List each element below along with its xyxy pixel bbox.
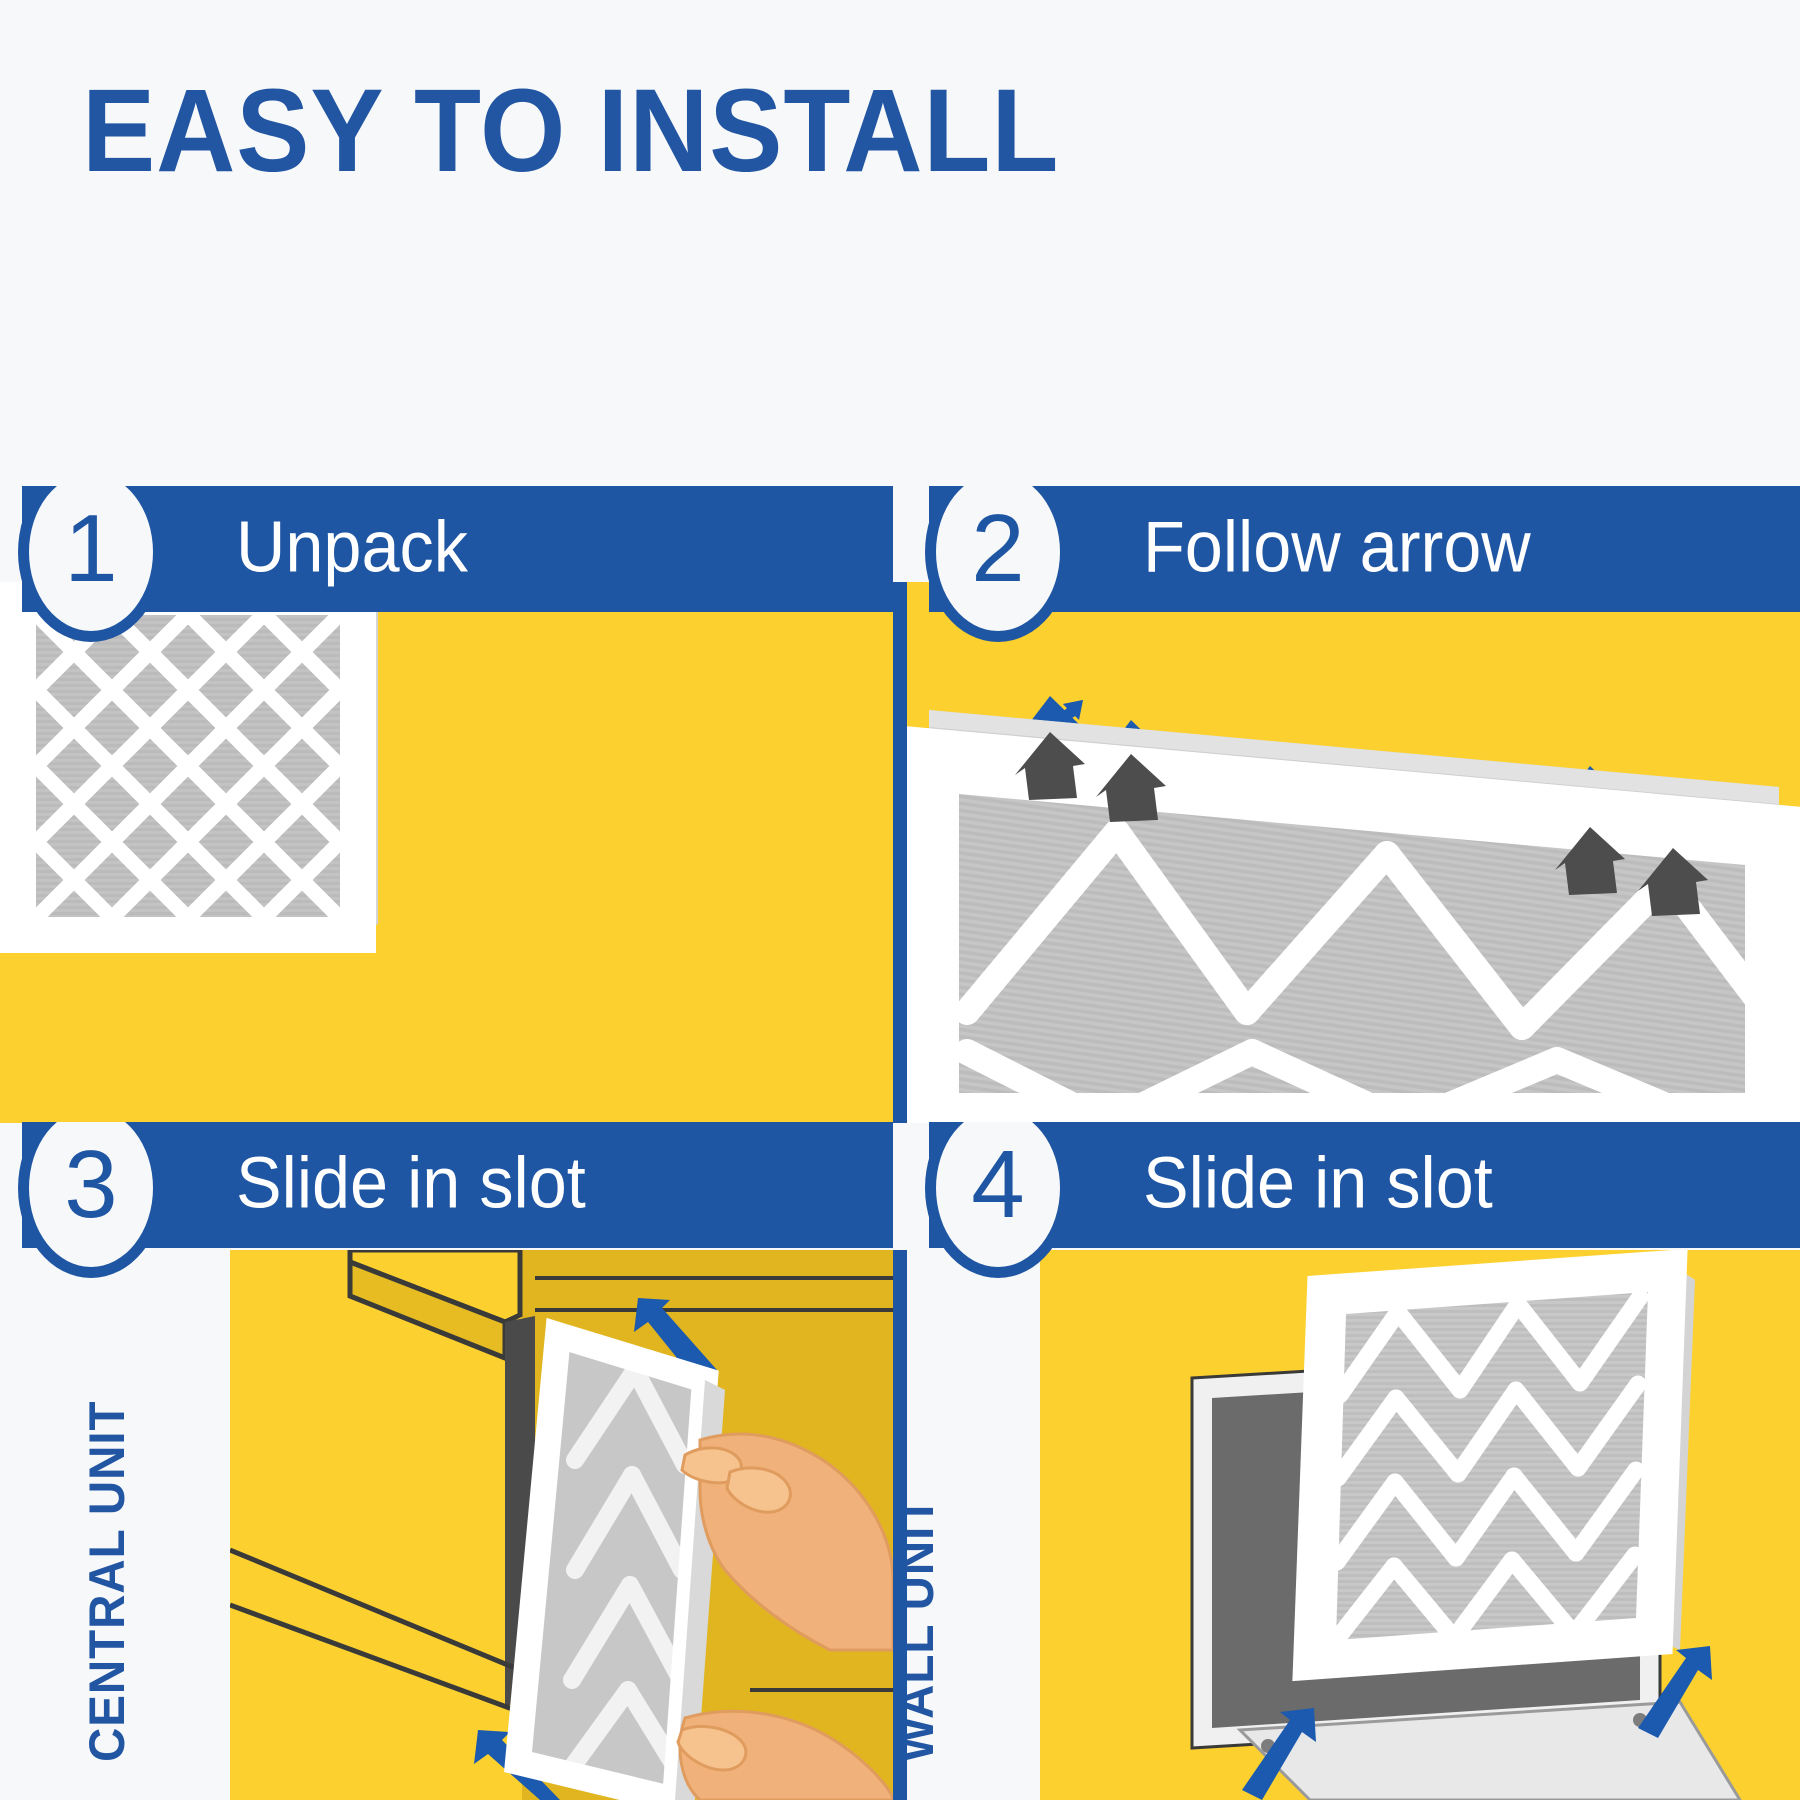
panel-step-4-body — [1040, 1250, 1800, 1800]
column-divider-bottom — [893, 1250, 907, 1800]
infographic-root: EASY TO INSTALL — [0, 0, 1800, 1800]
panel-step-1: Unpack 1 — [0, 486, 893, 1123]
panel-step-4: WALL UNIT Slide in slot 4 — [907, 1122, 1800, 1800]
wall-unit-illustration — [1040, 1250, 1800, 1800]
filter-wall-insert — [1308, 1265, 1695, 1665]
step-3-number-badge: 3 — [18, 1122, 164, 1278]
filter-flat-illustration — [0, 582, 893, 1123]
panel-step-2-body — [907, 582, 1800, 1123]
column-divider-top — [893, 582, 907, 1123]
step-2-number: 2 — [971, 501, 1024, 597]
central-unit-illustration — [230, 1250, 893, 1800]
panel-step-2: Follow arrow 2 — [907, 486, 1800, 1123]
side-label-central-unit: CENTRAL UNIT — [78, 1401, 136, 1762]
panel-step-3-body — [230, 1250, 893, 1800]
step-2-label: Follow arrow — [1143, 506, 1531, 588]
side-label-wall-unit: WALL UNIT — [907, 1496, 945, 1762]
step-1-label: Unpack — [236, 506, 468, 588]
panel-step-3: CENTRAL UNIT Slide in slot 3 — [0, 1122, 893, 1800]
step-3-number: 3 — [64, 1137, 117, 1233]
step-3-label: Slide in slot — [236, 1142, 586, 1224]
filter-tilted-illustration — [907, 582, 1800, 1123]
panel-step-1-body — [0, 582, 893, 1123]
step-4-number: 4 — [971, 1137, 1024, 1233]
step-1-number: 1 — [64, 501, 117, 597]
page-title: EASY TO INSTALL — [82, 72, 1059, 190]
step-4-label: Slide in slot — [1143, 1142, 1493, 1224]
